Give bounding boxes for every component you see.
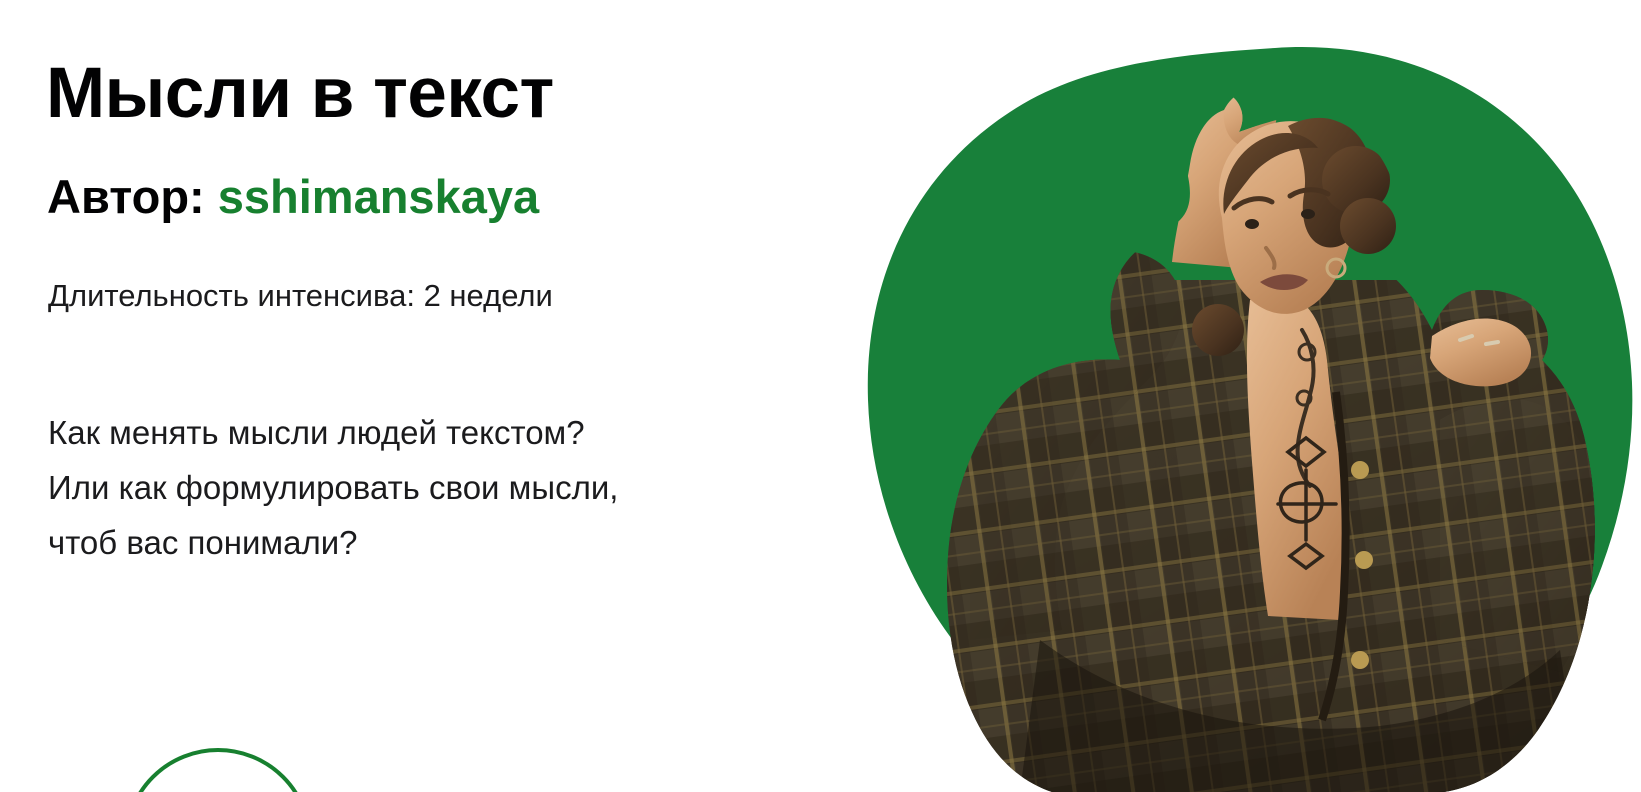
author-name: sshimanskaya: [218, 170, 539, 223]
page-title: Мысли в текст: [46, 58, 554, 130]
text-column: Мысли в текст Автор: sshimanskaya Длител…: [46, 0, 846, 792]
course-duration: Длительность интенсива: 2 недели: [48, 275, 553, 317]
lead-line-2: Или как формулировать свои мысли,: [48, 460, 618, 515]
author-label: Автор:: [47, 170, 205, 223]
green-circle-outline: [124, 748, 312, 792]
author-line: Автор: sshimanskaya: [47, 172, 539, 223]
author-photo-graphic: [820, 0, 1641, 792]
lead-line-3: чтоб вас понимали?: [48, 515, 618, 570]
lead-paragraph: Как менять мысли людей текстом? Или как …: [48, 405, 618, 570]
course-intro-slide: Мысли в текст Автор: sshimanskaya Длител…: [0, 0, 1641, 792]
lead-line-1: Как менять мысли людей текстом?: [48, 405, 618, 460]
